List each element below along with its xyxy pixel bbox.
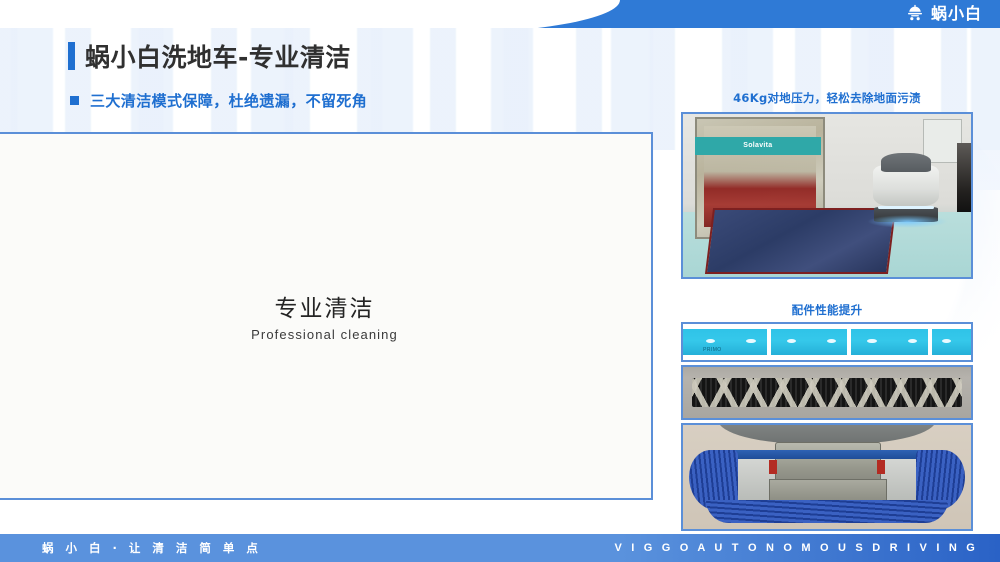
blade-notch bbox=[928, 329, 932, 355]
title-accent-bar bbox=[68, 42, 75, 70]
squeegee-blade-photo: PRIMO bbox=[681, 322, 973, 362]
red-clip-right bbox=[877, 460, 884, 474]
photo-caption-1: 46Kg对地压力，轻松去除地面污渍 bbox=[681, 90, 973, 106]
blade-label-text: PRIMO bbox=[703, 347, 721, 353]
mop-head-photo-art bbox=[683, 425, 971, 529]
page-title-text: 蜗小白洗地车-专业清洁 bbox=[85, 38, 351, 74]
blade-hole bbox=[706, 339, 715, 343]
robot-led-strip bbox=[878, 206, 934, 209]
brush-roller-photo bbox=[681, 365, 973, 420]
robot-head bbox=[881, 153, 931, 172]
footer-brand-en: V I G G O A U T O N O M O U S D R I V I … bbox=[614, 534, 978, 562]
door-sign: Solavita bbox=[695, 137, 822, 155]
brush-roller bbox=[692, 378, 963, 408]
blade-notch bbox=[767, 329, 771, 355]
cleaning-robot bbox=[873, 153, 939, 221]
page-subtitle-text: 三大清洁模式保障，杜绝遗漏，不留死角 bbox=[90, 90, 367, 111]
brush-roller-photo-art bbox=[683, 367, 971, 418]
footer-slogan: 蜗 小 白 · 让 清 洁 简 单 点 bbox=[42, 534, 262, 562]
bullet-square-icon bbox=[70, 96, 79, 105]
mop-fringe-bottom bbox=[706, 500, 948, 523]
brush-bristle-pattern bbox=[692, 378, 963, 408]
red-clip-left bbox=[769, 460, 776, 474]
robot-lobby-photo: Solavita bbox=[681, 112, 973, 279]
blade-hole bbox=[867, 339, 876, 343]
squeegee-blade: PRIMO bbox=[683, 329, 971, 355]
blade-hole bbox=[746, 339, 755, 343]
slide-canvas: 蜗小白 蜗小白洗地车-专业清洁 三大清洁模式保障，杜绝遗漏，不留死角 专业清洁 … bbox=[0, 0, 1000, 562]
mop-head-photo bbox=[681, 423, 973, 531]
robot-lobby-photo-art: Solavita bbox=[683, 114, 971, 277]
main-content-panel: 专业清洁 Professional cleaning bbox=[0, 132, 653, 500]
blade-hole bbox=[827, 339, 836, 343]
footer-bar: 蜗 小 白 · 让 清 洁 简 单 点 V I G G O A U T O N … bbox=[0, 534, 1000, 562]
top-banner: 蜗小白 bbox=[0, 0, 1000, 28]
center-caption-en: Professional cleaning bbox=[0, 327, 651, 342]
blade-hole bbox=[908, 339, 917, 343]
top-banner-curve bbox=[0, 0, 620, 28]
brand-logo: 蜗小白 bbox=[905, 3, 982, 25]
center-caption-cn: 专业清洁 bbox=[0, 294, 651, 324]
brand-logo-text: 蜗小白 bbox=[931, 4, 982, 24]
snail-logo-icon bbox=[905, 4, 925, 24]
robot-underside bbox=[718, 423, 937, 444]
photo-caption-2: 配件性能提升 bbox=[681, 302, 973, 318]
blade-notch bbox=[847, 329, 851, 355]
squeegee-blade-photo-art: PRIMO bbox=[683, 324, 971, 360]
page-title: 蜗小白洗地车-专业清洁 bbox=[68, 38, 351, 74]
page-subtitle: 三大清洁模式保障，杜绝遗漏，不留死角 bbox=[70, 90, 367, 111]
blade-hole bbox=[787, 339, 796, 343]
robot-floor-glow bbox=[867, 215, 948, 228]
blade-hole bbox=[942, 339, 951, 343]
brush-photo-backdrop bbox=[683, 367, 971, 378]
center-caption-block: 专业清洁 Professional cleaning bbox=[0, 294, 651, 342]
blue-support-bar bbox=[715, 450, 940, 459]
door-sign-text: Solavita bbox=[743, 142, 772, 149]
person-silhouette bbox=[957, 143, 971, 211]
